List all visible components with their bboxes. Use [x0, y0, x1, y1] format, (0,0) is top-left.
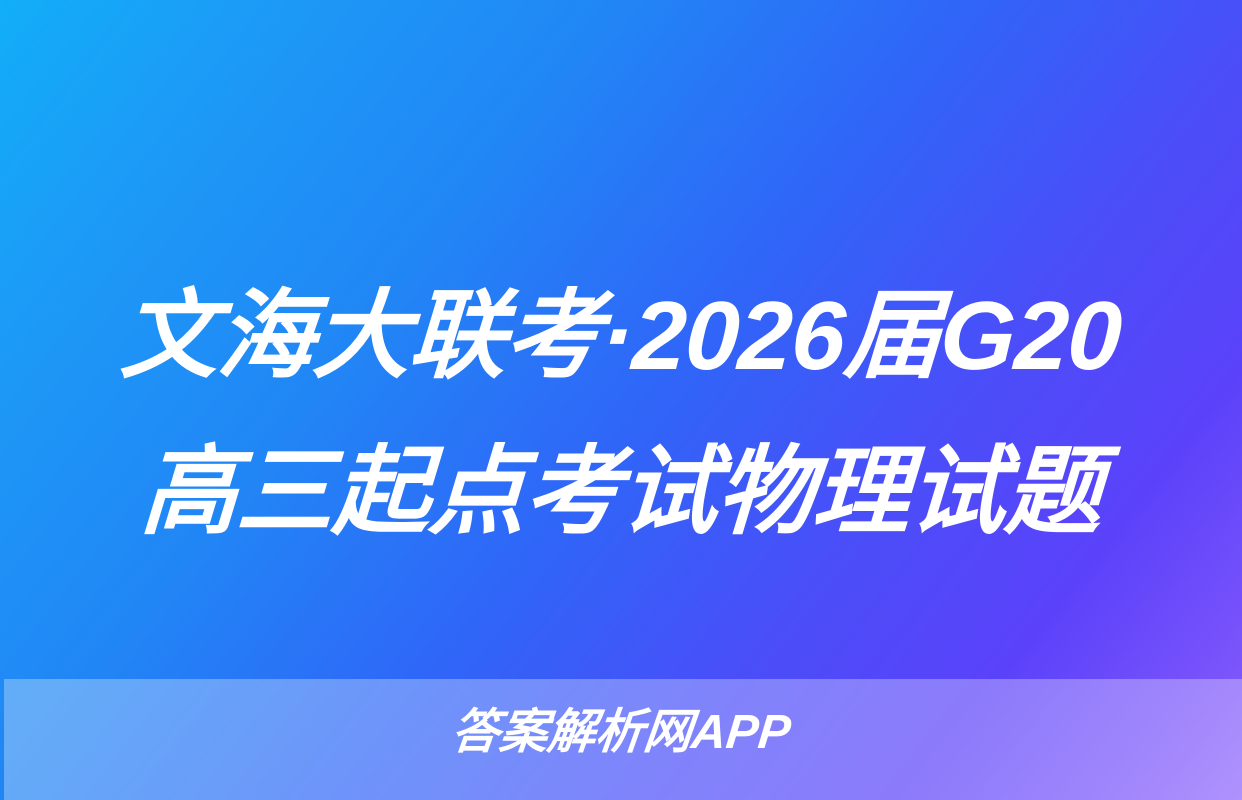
page-title-line-2: 高三起点考试物理试题	[0, 414, 1242, 570]
exam-cover-card: 文海大联考·2026届G20 高三起点考试物理试题 答案解析网APP	[0, 0, 1242, 800]
app-watermark-label: 答案解析网APP	[0, 702, 1242, 764]
page-title: 文海大联考·2026届G20 高三起点考试物理试题	[0, 258, 1242, 570]
page-title-line-1: 文海大联考·2026届G20	[0, 258, 1242, 414]
